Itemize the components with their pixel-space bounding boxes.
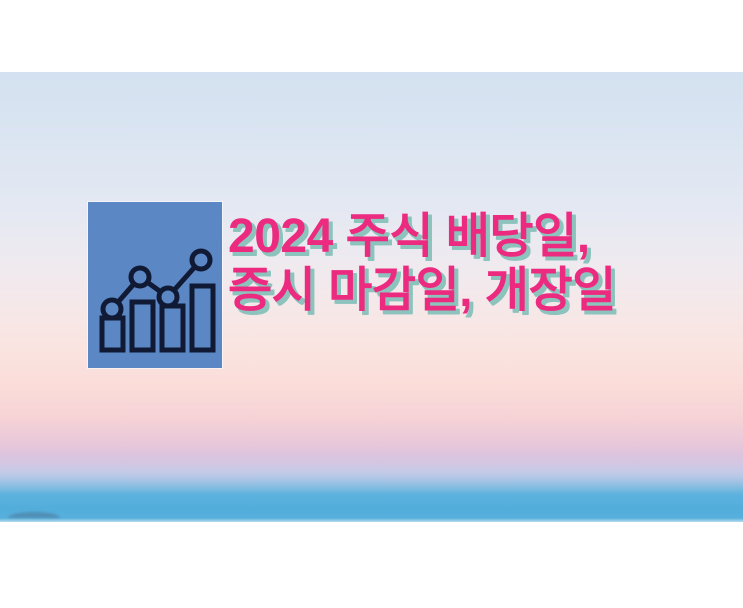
chart-icon-node-3 xyxy=(159,288,177,306)
chart-icon-bar-4 xyxy=(192,286,213,350)
chart-icon-glyph xyxy=(88,202,222,368)
chart-icon-node-1 xyxy=(103,300,121,318)
bar-line-chart-icon xyxy=(88,202,222,368)
stock-calendar-banner: 2024 주식 배당일, 증시 마감일, 개장일 xyxy=(0,72,743,522)
headline-line-2: 증시 마감일, 개장일 xyxy=(228,264,698,318)
page-canvas: 2024 주식 배당일, 증시 마감일, 개장일 xyxy=(0,0,743,608)
chart-icon-bar-1 xyxy=(102,318,123,350)
chart-icon-node-4 xyxy=(192,251,210,269)
water-edge-highlight xyxy=(0,518,743,522)
chart-icon-trendline xyxy=(112,260,201,309)
chart-icon-bar-3 xyxy=(162,306,183,350)
chart-icon-node-2 xyxy=(131,268,149,286)
headline-line-1: 2024 주식 배당일, xyxy=(228,210,698,264)
chart-icon-bar-2 xyxy=(132,302,153,350)
banner-headline: 2024 주식 배당일, 증시 마감일, 개장일 xyxy=(228,210,698,318)
